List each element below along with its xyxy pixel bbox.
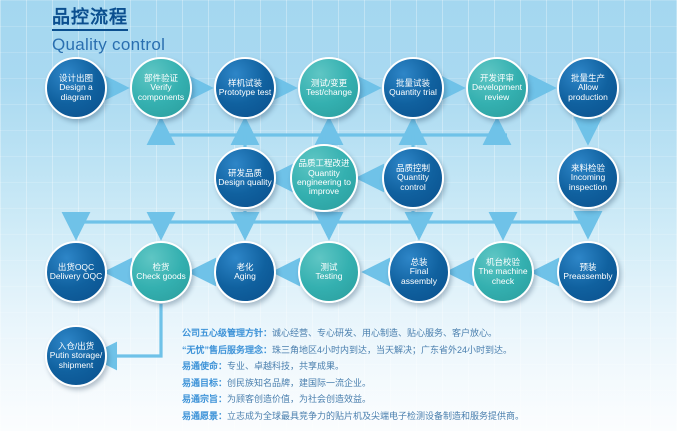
policy-line-key: “无忧”售后服务理念： — [182, 345, 272, 355]
flow-node-row1-6[interactable]: 开发评审Development review — [466, 57, 528, 119]
policy-line: 易通愿景：立志成为全球最具竞争力的贴片机及尖端电子检测设备制造和服务提供商。 — [182, 408, 670, 425]
flow-node-label: 总装Final assembly — [390, 258, 448, 286]
flow-node-row2-3[interactable]: 品质控制Quantity control — [382, 147, 444, 209]
policy-line-value: 创民族知名品牌，建国际一流企业。 — [227, 378, 371, 388]
policy-line: 易通宗旨：为顾客创造价值，为社会创造效益。 — [182, 391, 670, 408]
flow-node-row2-1[interactable]: 研发品质Design quality — [214, 147, 276, 209]
flow-node-label: 测试/变更Test/change — [304, 79, 354, 98]
flow-node-label-en: Preassembly — [563, 272, 612, 281]
flow-node-label: 品质控制Quantity control — [384, 164, 442, 192]
flow-node-label: 检货Check goods — [134, 263, 188, 282]
flow-node-row3-1[interactable]: 出货OQCDelivery OQC — [45, 241, 107, 303]
flow-node-row1-5[interactable]: 批量试装Quantity trial — [382, 57, 444, 119]
flow-node-label: 部件验证Verify components — [132, 74, 190, 102]
flow-node-label: 批量试装Quantity trial — [387, 79, 439, 98]
flow-node-label-en: Testing — [316, 272, 343, 281]
flow-node-row2-2[interactable]: 品质工程改进Quantity engineering to improve — [290, 144, 358, 212]
flow-node-label: 出货OQCDelivery OQC — [48, 263, 104, 282]
flow-node-label: 机台校验The machine check — [474, 258, 532, 286]
policy-line: 易通目标：创民族知名品牌，建国际一流企业。 — [182, 375, 670, 392]
page-title: 品控流程 Quality control — [52, 6, 165, 56]
flow-node-row3-7[interactable]: 预装Preassembly — [557, 241, 619, 303]
flow-node-row1-4[interactable]: 测试/变更Test/change — [298, 57, 360, 119]
flow-node-label: 测试Testing — [314, 263, 345, 282]
flow-node-label-en: Design a diagram — [49, 83, 103, 102]
flow-node-label-en: Delivery OQC — [50, 272, 102, 281]
flow-node-label-en: Quantity engineering to improve — [294, 169, 354, 197]
flow-node-label-en: Quantity trial — [389, 88, 437, 97]
flow-node-row2-4[interactable]: 来料检验Incoming inspection — [557, 147, 619, 209]
flow-node-label: 研发品质Design quality — [216, 169, 273, 188]
quality-control-flow-diagram: 品控流程 Quality control 设计出图Design a diagra… — [0, 0, 677, 431]
flow-node-label: 设计出图Design a diagram — [47, 74, 105, 102]
flow-node-label: 入仓/出货Putin storage/ shipment — [47, 342, 105, 370]
title-cn: 品控流程 — [52, 6, 128, 31]
flow-node-row4-1[interactable]: 入仓/出货Putin storage/ shipment — [45, 325, 107, 387]
policy-line-value: 专业、卓越科技，共享成果。 — [227, 361, 344, 371]
flow-node-label-en: Quantity control — [386, 173, 440, 192]
flow-node-row1-3[interactable]: 样机试装Prototype test — [214, 57, 276, 119]
flow-node-label: 批量生产Allow production — [559, 74, 617, 102]
flow-node-label: 品质工程改进Quantity engineering to improve — [292, 159, 356, 196]
policy-line-value: 为顾客创造价值，为社会创造效益。 — [227, 394, 371, 404]
policy-line-key: 易通宗旨： — [182, 394, 227, 404]
flow-node-row1-1[interactable]: 设计出图Design a diagram — [45, 57, 107, 119]
policy-text-block: 公司五心级管理方针：诚心经营、专心研发、用心制造、贴心服务、客户放心。“无忧”售… — [182, 325, 670, 424]
policy-line-key: 公司五心级管理方针： — [182, 328, 272, 338]
policy-line: “无忧”售后服务理念：珠三角地区4小时内到达，当天解决；广东省外24小时到达。 — [182, 342, 670, 359]
flow-node-label-en: Prototype test — [219, 88, 271, 97]
flow-node-row1-7[interactable]: 批量生产Allow production — [557, 57, 619, 119]
flow-node-label-en: The machine check — [476, 267, 530, 286]
flow-node-label-en: Design quality — [218, 178, 271, 187]
policy-line-key: 易通使命： — [182, 361, 227, 371]
flow-node-row3-3[interactable]: 老化Aging — [214, 241, 276, 303]
flow-node-label-en: Verify components — [134, 83, 188, 102]
flow-node-label-en: Final assembly — [392, 267, 446, 286]
flow-node-row3-6[interactable]: 机台校验The machine check — [472, 241, 534, 303]
policy-line-key: 易通愿景： — [182, 411, 227, 421]
flow-node-row3-4[interactable]: 测试Testing — [298, 241, 360, 303]
flow-node-label: 开发评审Development review — [468, 74, 526, 102]
flow-node-row1-2[interactable]: 部件验证Verify components — [130, 57, 192, 119]
policy-line-value: 诚心经营、专心研发、用心制造、贴心服务、客户放心。 — [272, 328, 497, 338]
policy-line-value: 珠三角地区4小时内到达，当天解决；广东省外24小时到达。 — [272, 345, 512, 355]
flow-node-label-en: Putin storage/ shipment — [49, 351, 103, 370]
flow-node-label-en: Test/change — [306, 88, 352, 97]
flow-node-label-en: Allow production — [561, 83, 615, 102]
title-en: Quality control — [52, 34, 165, 56]
flow-node-label-en: Development review — [470, 83, 524, 102]
flow-node-label-en: Check goods — [136, 272, 186, 281]
policy-line: 易通使命：专业、卓越科技，共享成果。 — [182, 358, 670, 375]
flow-node-label: 老化Aging — [232, 263, 258, 282]
flow-node-label: 来料检验Incoming inspection — [559, 164, 617, 192]
flow-node-row3-5[interactable]: 总装Final assembly — [388, 241, 450, 303]
flow-node-label-en: Aging — [234, 272, 256, 281]
flow-node-label-en: Incoming inspection — [561, 173, 615, 192]
policy-line: 公司五心级管理方针：诚心经营、专心研发、用心制造、贴心服务、客户放心。 — [182, 325, 670, 342]
policy-line-value: 立志成为全球最具竞争力的贴片机及尖端电子检测设备制造和服务提供商。 — [227, 411, 524, 421]
flow-node-label: 样机试装Prototype test — [217, 79, 273, 98]
flow-node-row3-2[interactable]: 检货Check goods — [130, 241, 192, 303]
policy-line-key: 易通目标： — [182, 378, 227, 388]
flow-node-label: 预装Preassembly — [561, 263, 614, 282]
